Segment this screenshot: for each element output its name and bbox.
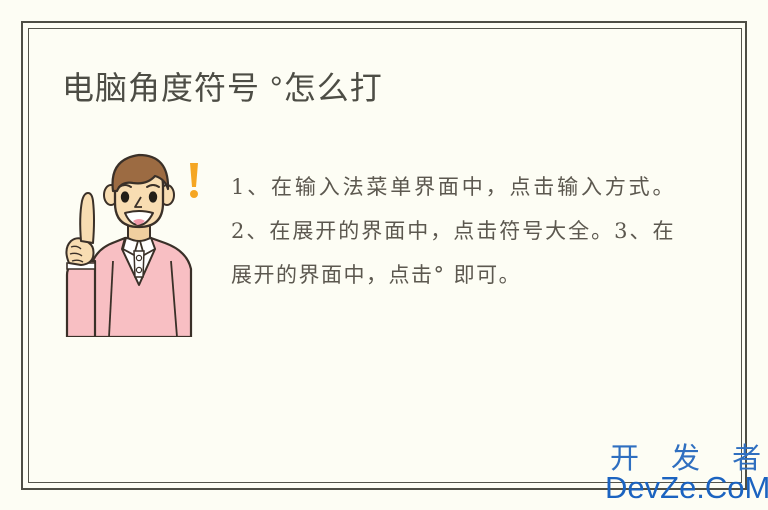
article-body: 1、在输入法菜单界面中，点击输入方式。2、在展开的界面中，点击符号大全。3、在展…	[231, 165, 675, 297]
watermark-en-text: DevZe.CoM	[605, 471, 768, 505]
page-title: 电脑角度符号 °怎么打	[62, 68, 383, 108]
watermark-cn-text: 开 发 者	[610, 443, 768, 475]
page-canvas: 电脑角度符号 °怎么打	[0, 0, 768, 510]
man-pointing-up-illustration	[55, 145, 215, 337]
site-watermark: 开 发 者 DevZe.CoM	[600, 443, 768, 510]
